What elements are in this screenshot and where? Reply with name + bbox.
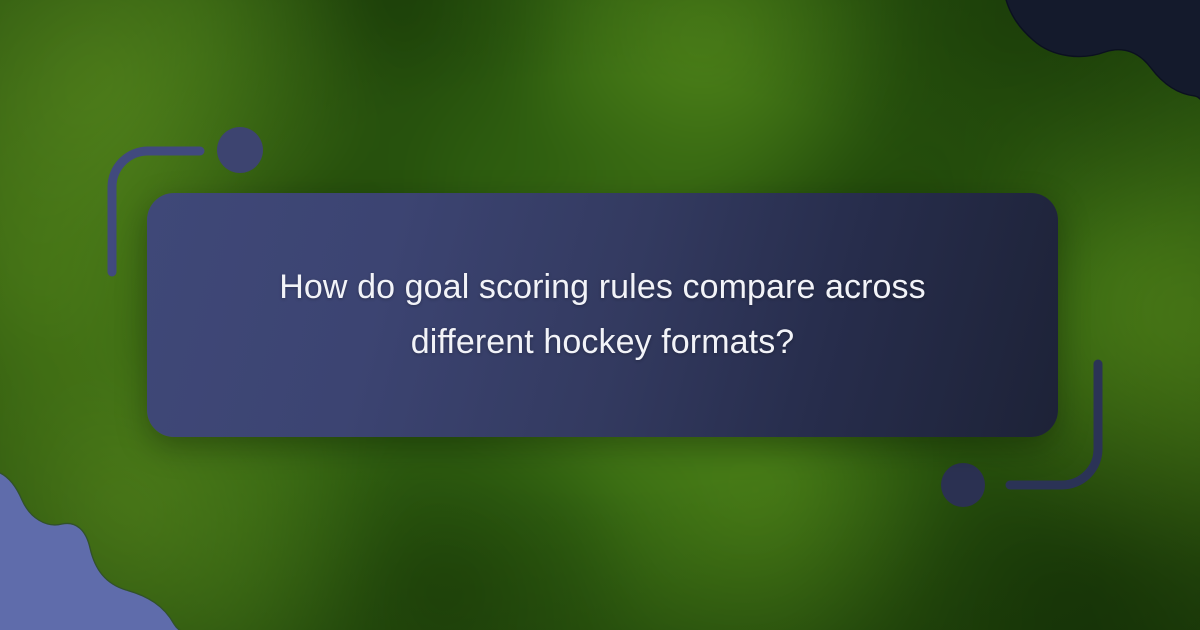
organic-blob-bottom-left-icon bbox=[0, 472, 198, 630]
circle-dot-bottom-right-icon bbox=[941, 463, 985, 507]
circle-dot-top-left-icon bbox=[217, 127, 263, 173]
question-text: How do goal scoring rules compare across… bbox=[233, 260, 973, 370]
poster-canvas: How do goal scoring rules compare across… bbox=[0, 0, 1200, 630]
organic-blob-top-right-icon bbox=[987, 0, 1200, 131]
question-card: How do goal scoring rules compare across… bbox=[147, 193, 1058, 437]
